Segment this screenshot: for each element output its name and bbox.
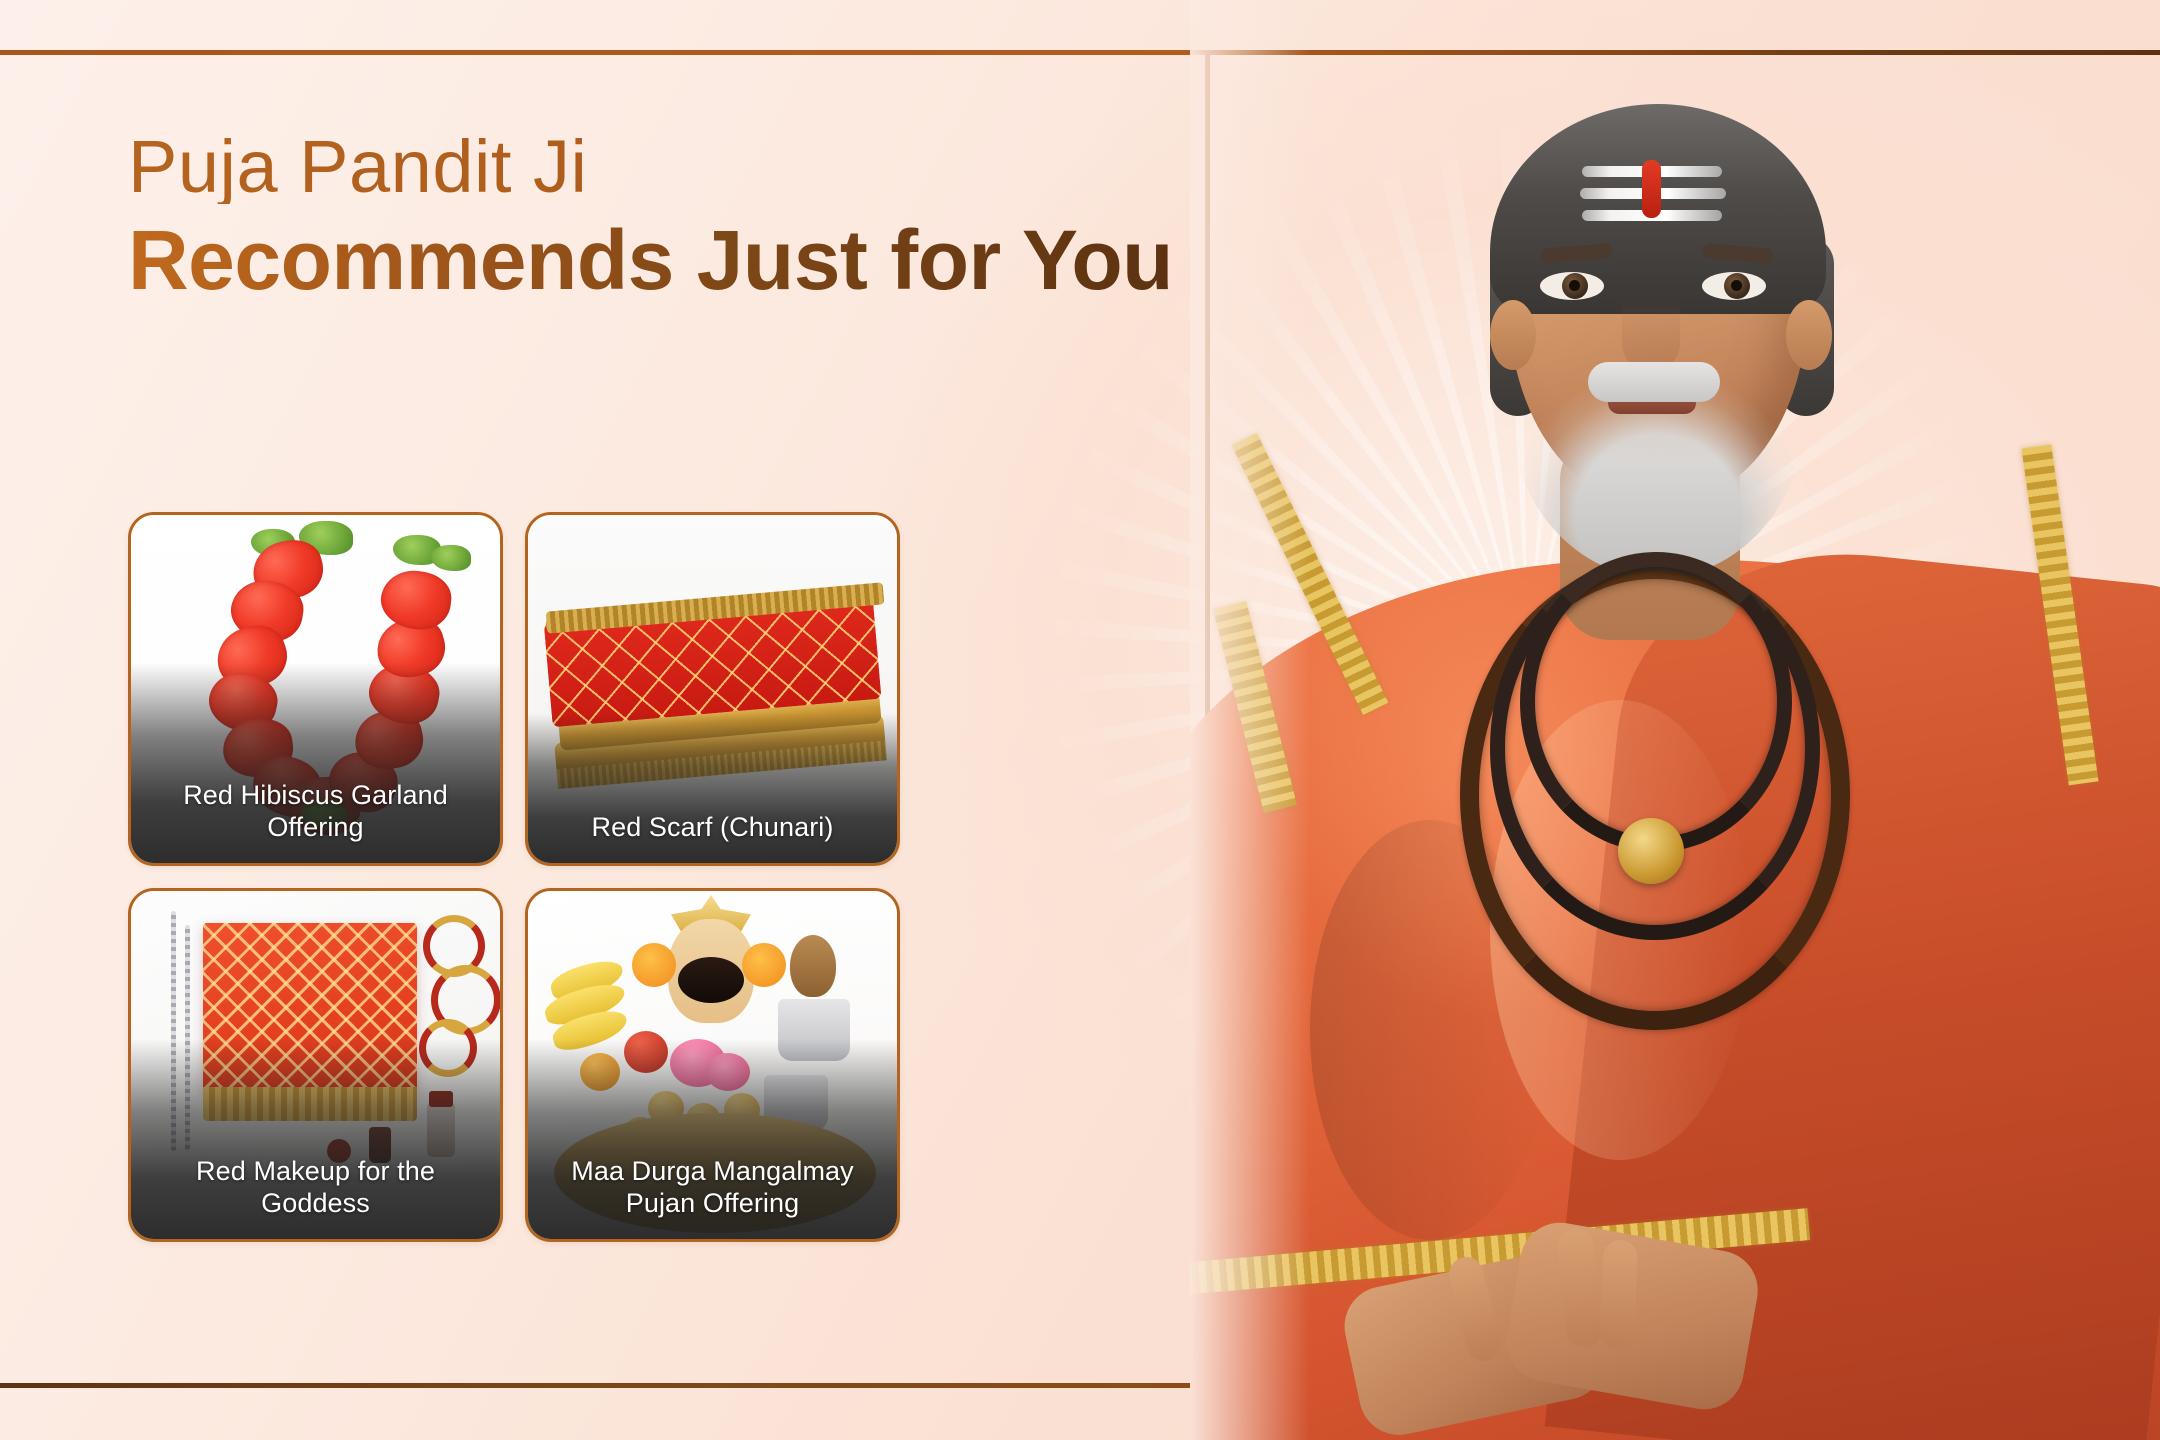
- product-caption-red-makeup-goddess: Red Makeup for the Goddess: [131, 1039, 500, 1239]
- headline-line-1: Puja Pandit Ji: [128, 130, 1173, 204]
- pupil-left: [1569, 280, 1580, 291]
- product-card-red-hibiscus-garland[interactable]: Red Hibiscus Garland Offering: [128, 512, 503, 866]
- headline-line-2: Recommends Just for You: [128, 218, 1173, 302]
- product-caption-red-hibiscus-garland: Red Hibiscus Garland Offering: [131, 663, 500, 863]
- product-card-red-makeup-goddess[interactable]: Red Makeup for the Goddess: [128, 888, 503, 1242]
- red-bindi-mark: [1642, 160, 1661, 218]
- headline-block: Puja Pandit Ji Recommends Just for You: [128, 130, 1173, 302]
- product-caption-red-scarf-chunari: Red Scarf (Chunari): [528, 713, 897, 863]
- bottom-divider-rule: [0, 1383, 1210, 1388]
- gold-pendant: [1618, 818, 1684, 884]
- product-caption-maa-durga-pujan-offering: Maa Durga Mangalmay Pujan Offering: [528, 1039, 897, 1239]
- bead-mala-inner: [1520, 552, 1792, 852]
- recommended-products-grid: Red Hibiscus Garland Offering Red Scarf …: [128, 512, 900, 1242]
- pupil-right: [1731, 280, 1742, 291]
- promo-banner: Puja Pandit Ji Recommends Just for You: [0, 0, 2160, 1440]
- moustache: [1588, 362, 1720, 402]
- finger-middle: [1600, 1239, 1638, 1350]
- pandit-ji-photo: [1190, 0, 2160, 1440]
- product-card-maa-durga-pujan-offering[interactable]: Maa Durga Mangalmay Pujan Offering: [525, 888, 900, 1242]
- beard: [1510, 300, 1806, 578]
- product-card-red-scarf-chunari[interactable]: Red Scarf (Chunari): [525, 512, 900, 866]
